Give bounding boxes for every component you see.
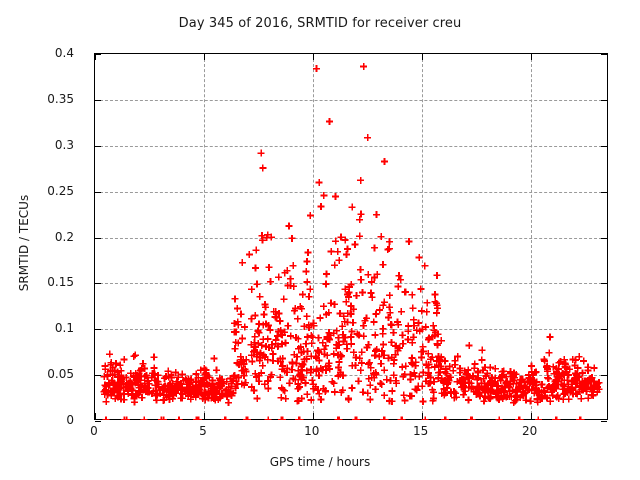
y-axis-tick (601, 54, 607, 55)
y-axis-tick (95, 238, 101, 239)
x-axis-tick (422, 413, 423, 419)
y-axis-tick (95, 375, 101, 376)
x-axis-tick (531, 54, 532, 60)
y-tick-label: 0.3 (55, 138, 74, 152)
y-tick-label: 0.15 (47, 275, 74, 289)
y-axis-tick (601, 329, 607, 330)
x-axis-tick (204, 54, 205, 60)
y-axis-tick (95, 421, 101, 422)
y-axis-tick (601, 146, 607, 147)
y-axis-tick (601, 375, 607, 376)
x-tick-label: 15 (413, 424, 428, 438)
plot-area (94, 53, 608, 420)
y-axis-tick (95, 146, 101, 147)
x-axis-tick-labels: 05101520 (94, 424, 608, 446)
y-axis-tick (95, 100, 101, 101)
y-axis-tick (601, 192, 607, 193)
y-tick-label: 0.35 (47, 92, 74, 106)
x-tick-label: 5 (199, 424, 207, 438)
y-tick-label: 0.25 (47, 184, 74, 198)
x-tick-label: 10 (304, 424, 319, 438)
x-axis-tick (422, 54, 423, 60)
y-tick-label: 0.2 (55, 230, 74, 244)
y-tick-label: 0.4 (55, 46, 74, 60)
x-axis-tick (95, 413, 96, 419)
x-axis-tick (95, 54, 96, 60)
y-axis-tick-labels: 00.050.10.150.20.250.30.350.4 (0, 53, 86, 420)
y-axis-tick (95, 283, 101, 284)
y-tick-label: 0.1 (55, 321, 74, 335)
x-axis-tick (313, 54, 314, 60)
gridline-vertical (204, 54, 205, 419)
gridline-vertical (422, 54, 423, 419)
x-tick-label: 0 (90, 424, 98, 438)
y-tick-label: 0 (66, 413, 74, 427)
y-axis-tick (601, 238, 607, 239)
y-tick-label: 0.05 (47, 367, 74, 381)
x-axis-tick (204, 413, 205, 419)
y-axis-title: SRMTID / TECUs (17, 143, 31, 343)
y-axis-tick (601, 421, 607, 422)
gridline-vertical (531, 54, 532, 419)
y-axis-tick (95, 192, 101, 193)
y-axis-tick (95, 329, 101, 330)
chart-title: Day 345 of 2016, SRMTID for receiver cre… (0, 16, 640, 31)
x-tick-label: 20 (522, 424, 537, 438)
x-axis-tick (531, 413, 532, 419)
y-axis-tick (601, 100, 607, 101)
x-axis-tick (313, 413, 314, 419)
x-axis-title: GPS time / hours (0, 455, 640, 469)
chart-figure: Day 345 of 2016, SRMTID for receiver cre… (0, 0, 640, 480)
y-axis-tick (601, 283, 607, 284)
gridline-vertical (313, 54, 314, 419)
